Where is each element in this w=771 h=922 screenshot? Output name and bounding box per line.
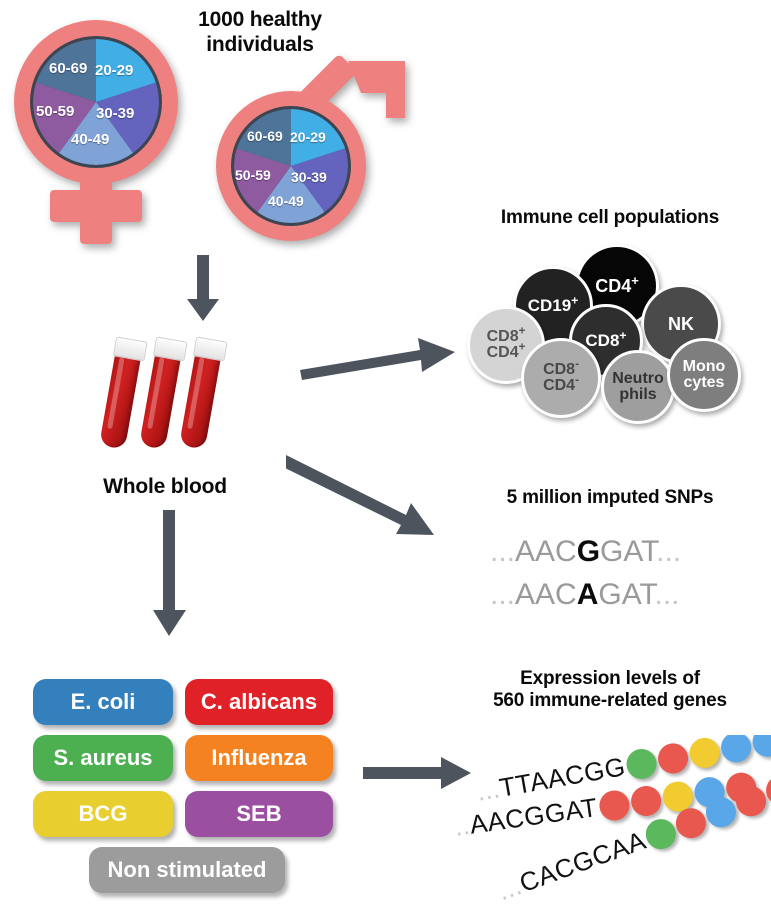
bead-t [629,784,663,818]
male-age-pie: 20-29 30-39 40-49 50-59 60-69 [234,109,348,223]
blood-tube-2 [139,337,184,450]
stimulus-seb[interactable]: SEB [185,791,333,837]
arrow-blood-to-stimuli [150,510,190,638]
snps-title: 5 million imputed SNPs [455,487,765,509]
pie-label-30-39: 30-39 [291,169,327,185]
expression-title-line1: Expression levels of [455,668,765,690]
arrow-blood-to-snps [286,455,446,545]
blood-tube-3 [179,337,224,450]
stimulus-label: Influenza [211,745,306,771]
snp-variant: G [577,535,600,568]
cell-sup: + [619,329,626,343]
bead-c [751,735,771,759]
stimulus-s-aureus[interactable]: S. aureus [33,735,173,781]
snp-sequence-2: ...AACAGAT... [490,578,680,612]
cell-label: NK [668,315,694,333]
bead-t [656,740,691,775]
pie-label-20-29: 20-29 [290,129,326,145]
cell-label-2: CD4 [543,377,575,394]
stimulus-e-coli[interactable]: E. coli [33,679,173,725]
male-symbol: 20-29 30-39 40-49 50-59 60-69 [205,55,415,255]
stimulus-c-albicans[interactable]: C. albicans [185,679,333,725]
stimulus-label: E. coli [71,689,136,715]
snp-suffix: ... [656,535,681,568]
pie-label-60-69: 60-69 [49,60,87,77]
expression-strands: ...TTAACGG ...AACGGAT ...CACGCAA [455,735,771,915]
snp-prefix: ... [490,578,515,611]
blood-tubes [110,335,240,455]
bead-c [719,735,754,764]
arrow-cohort-to-blood [183,255,223,323]
bead-t [597,788,631,822]
cell-label: CD8 [585,331,619,350]
stimulus-label: BCG [79,801,128,827]
cell-label: Mono [683,358,726,375]
stimulus-label: SEB [236,801,281,827]
cell-monocytes: Mono cytes [667,338,741,412]
pie-label-60-69: 60-69 [247,128,283,144]
cell-sup: + [631,273,639,288]
snp-prefix: ... [490,535,515,568]
pie-label-40-49: 40-49 [71,131,109,148]
expression-title: Expression levels of 560 immune-related … [455,668,765,713]
snp-sequence-1: ...AACGGAT... [490,535,681,569]
cohort-title: 1000 healthy individuals [170,8,350,58]
cell-label: CD4 [595,276,631,296]
pie-label-50-59: 50-59 [235,167,271,183]
stimulus-bcg[interactable]: BCG [33,791,173,837]
blood-tube-1 [99,337,144,450]
pie-label-50-59: 50-59 [36,103,74,120]
figure-canvas: 1000 healthy individuals 20-29 30 [0,0,771,922]
strand-sequence: CACGCAA [515,825,649,898]
cell-label: Neutro [612,370,664,387]
cell-label: CD8 [487,328,519,345]
snp-variant: A [577,578,599,611]
snp-suffix: ... [655,578,680,611]
cell-label: CD8 [543,361,575,378]
bead-g [688,735,723,770]
cohort-title-line2: individuals [170,33,350,58]
cell-sup: - [575,358,579,370]
expression-title-line2: 560 immune-related genes [455,690,765,712]
cell-label-2: cytes [684,374,725,391]
cell-sup-2: + [519,342,526,354]
immune-cell-cluster: CD4+ CD19+ NK CD8+ CD8+ CD4+ CD8- CD4- N… [465,240,765,420]
bead-a [625,746,660,781]
snp-right: GAT [600,535,656,568]
whole-blood-label: Whole blood [60,475,270,500]
female-age-pie: 20-29 30-39 40-49 50-59 60-69 [33,39,159,165]
cell-neutrophils: Neutro phils [601,350,675,424]
stimulus-influenza[interactable]: Influenza [185,735,333,781]
snp-left: AAC [515,578,577,611]
stimulus-label: Non stimulated [108,857,267,883]
female-symbol: 20-29 30-39 40-49 50-59 60-69 [6,14,186,254]
immune-title: Immune cell populations [455,207,765,229]
pie-label-40-49: 40-49 [268,193,304,209]
snp-right: GAT [598,578,654,611]
cohort-title-line1: 1000 healthy [170,8,350,33]
pie-label-20-29: 20-29 [95,62,133,79]
stimulus-label: C. albicans [201,689,317,715]
stimulus-non-stimulated[interactable]: Non stimulated [89,847,285,893]
cell-sup: + [571,294,578,308]
cell-label-2: CD4 [487,344,519,361]
cell-label: CD19 [528,296,571,315]
cell-label-2: phils [619,386,656,403]
cell-sup-2: - [575,375,579,387]
cell-sup: + [519,325,526,337]
pie-label-30-39: 30-39 [96,105,134,122]
stimulus-label: S. aureus [53,745,152,771]
arrow-blood-to-immune [300,332,460,382]
snp-left: AAC [515,535,577,568]
cell-cd8neg-cd4neg: CD8- CD4- [521,338,601,418]
